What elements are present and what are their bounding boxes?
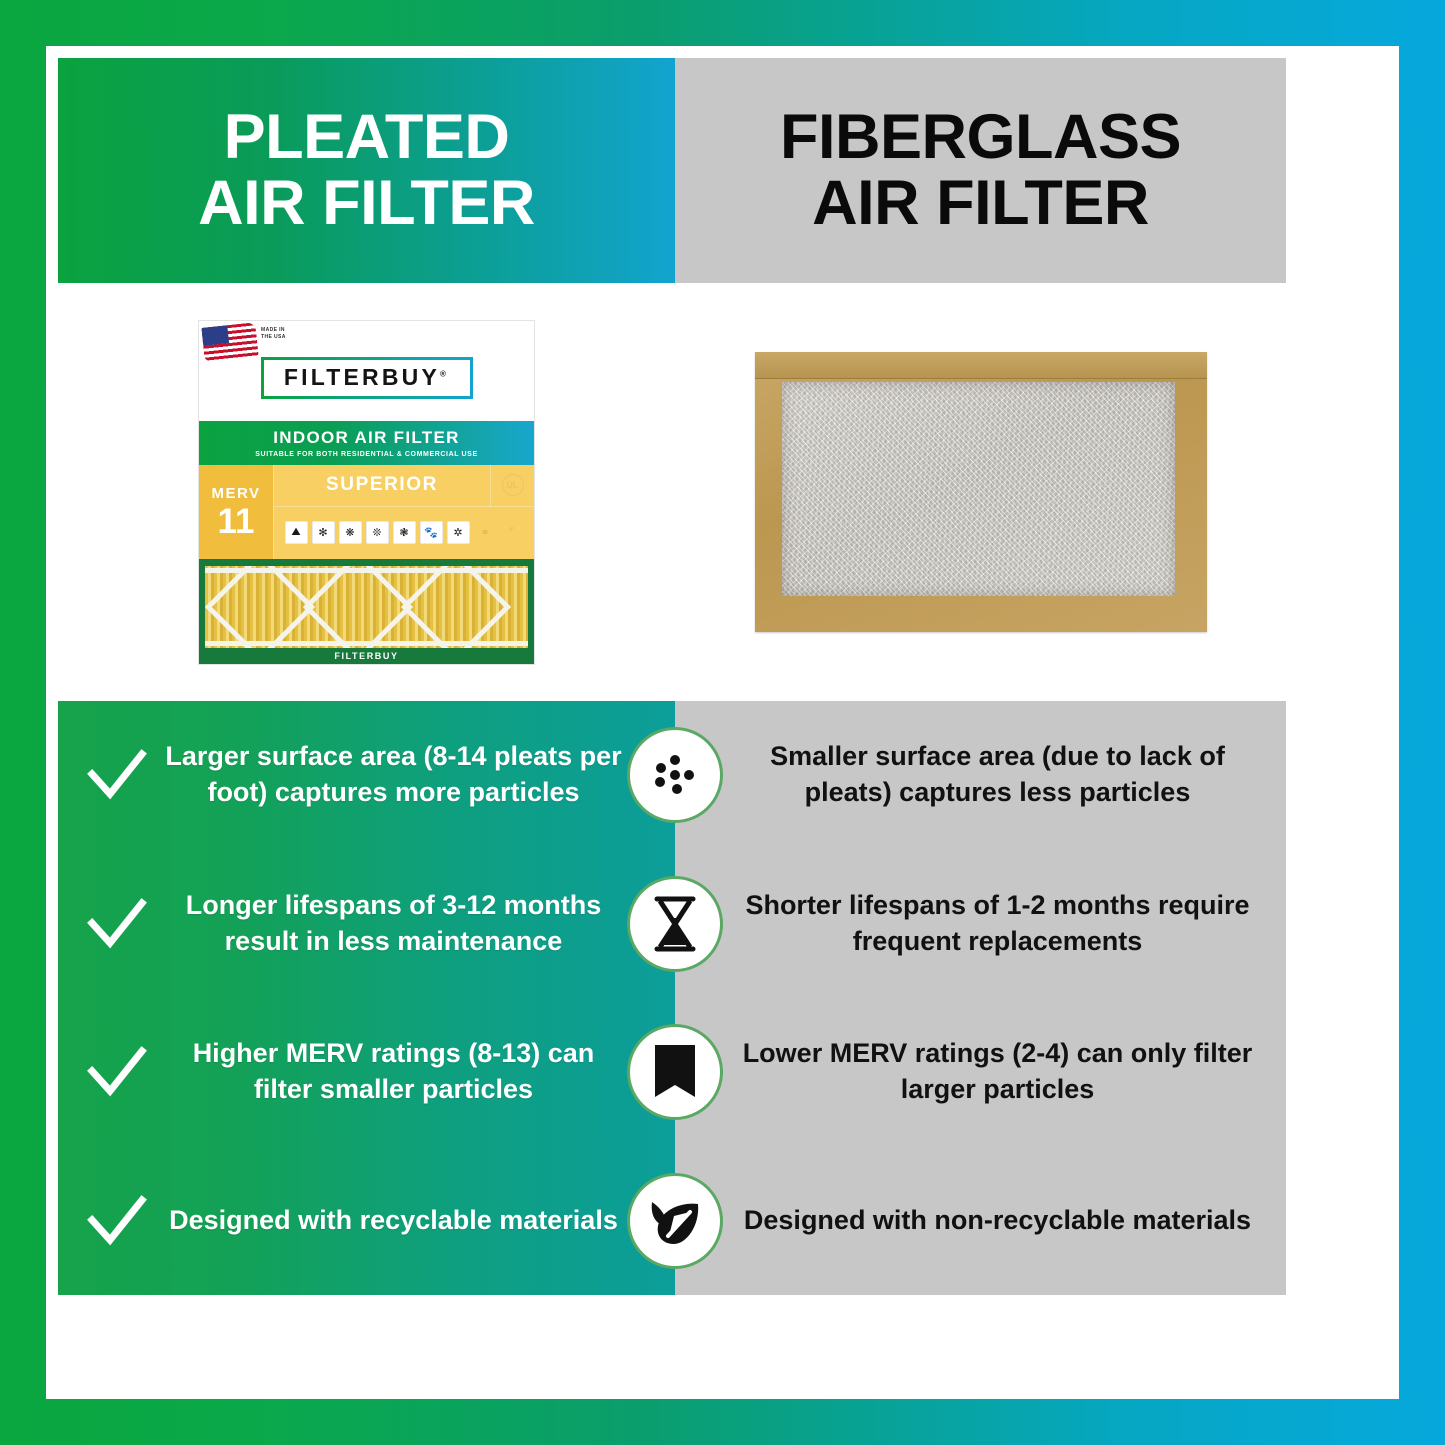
box-footer-brand: FILTERBUY (199, 648, 534, 665)
feature-row: Longer lifespans of 3-12 months result i… (58, 850, 1286, 999)
particles-icon (627, 727, 723, 823)
product-images-row: MADE IN THE USA FILTERBUY® INDOOR AIR FI… (58, 283, 1286, 701)
grade-row: SUPERIOR UL (274, 465, 534, 507)
hourglass-icon (627, 876, 723, 972)
header-fiberglass-panel: FIBERGLASS AIR FILTER (675, 58, 1286, 283)
feature-row-left: Designed with recyclable materials (58, 1147, 675, 1296)
feature-row: Larger surface area (8-14 pleats per foo… (58, 701, 1286, 850)
feature-text-fiberglass: Lower MERV ratings (2-4) can only filter… (737, 1036, 1258, 1108)
grade-section: SUPERIOR UL ⛰ ✻ ❋ ❊ ❃ 🐾 ✲ (274, 465, 534, 559)
grade-label: SUPERIOR (274, 474, 490, 496)
virus-icon: ⚭ (474, 521, 497, 544)
bacteria-icon: ✲ (447, 521, 470, 544)
dust-icon: ⛰ (285, 521, 308, 544)
feature-row-left: Larger surface area (8-14 pleats per foo… (58, 701, 675, 850)
header-fiberglass-title: FIBERGLASS AIR FILTER (780, 105, 1181, 236)
comparison-infographic: PLEATED AIR FILTER FIBERGLASS AIR FILTER… (0, 0, 1445, 1445)
certification-cell: UL (490, 465, 534, 506)
pleated-media-area: FILTERBUY (199, 559, 534, 665)
brand-word: FILTERBUY (284, 364, 440, 390)
feature-text-fiberglass: Shorter lifespans of 1-2 months require … (737, 888, 1258, 960)
pleated-image-cell: MADE IN THE USA FILTERBUY® INDOOR AIR FI… (58, 283, 675, 701)
support-diamond-1 (205, 566, 315, 648)
band-subtitle: SUITABLE FOR BOTH RESIDENTIAL & COMMERCI… (255, 451, 477, 458)
filter-feature-icons: ⛰ ✻ ❋ ❊ ❃ 🐾 ✲ ⚭ ⌜ (274, 507, 534, 559)
pleated-air-filter-box: MADE IN THE USA FILTERBUY® INDOOR AIR FI… (198, 320, 535, 665)
filter-box-top: MADE IN THE USA FILTERBUY® (199, 321, 534, 421)
feature-row: Designed with recyclable materials Desig… (58, 1147, 1286, 1296)
made-in-usa-label: MADE IN THE USA (261, 327, 286, 342)
check-icon (86, 744, 148, 806)
check-icon (86, 893, 148, 955)
check-icon (86, 1041, 148, 1103)
brand-trademark: ® (440, 369, 449, 378)
band-title: INDOOR AIR FILTER (273, 428, 459, 448)
feature-row-left: Longer lifespans of 3-12 months result i… (58, 850, 675, 999)
features-rows: Larger surface area (8-14 pleats per foo… (58, 701, 1286, 1295)
ul-certification-icon: UL (502, 474, 524, 496)
support-diamond-3 (401, 566, 511, 648)
pollen-icon: ❋ (339, 521, 362, 544)
check-icon (86, 1190, 148, 1252)
feature-row-right: Lower MERV ratings (2-4) can only filter… (675, 998, 1286, 1147)
fiberglass-air-filter (755, 352, 1207, 632)
filterbuy-logo-text: FILTERBUY® (284, 364, 449, 391)
feature-text-pleated: Larger surface area (8-14 pleats per foo… (164, 739, 623, 811)
feature-row: Higher MERV ratings (8-13) can filter sm… (58, 998, 1286, 1147)
header-pleated-title: PLEATED AIR FILTER (198, 105, 535, 236)
merv-value: 11 (218, 504, 255, 539)
feature-row-right: Designed with non-recyclable materials (675, 1147, 1286, 1296)
merv-label: MERV (211, 485, 260, 502)
indoor-air-filter-band: INDOOR AIR FILTER SUITABLE FOR BOTH RESI… (199, 421, 534, 465)
support-diamond-2 (303, 566, 413, 648)
filterbuy-logo-frame: FILTERBUY® (261, 357, 473, 399)
mold-icon: ❊ (366, 521, 389, 544)
leaves-icon (627, 1173, 723, 1269)
feature-text-pleated: Longer lifespans of 3-12 months result i… (164, 888, 623, 960)
feature-row-left: Higher MERV ratings (8-13) can filter sm… (58, 998, 675, 1147)
feature-text-pleated: Higher MERV ratings (8-13) can filter sm… (164, 1036, 623, 1108)
features-section: Larger surface area (8-14 pleats per foo… (58, 701, 1286, 1295)
feature-row-right: Shorter lifespans of 1-2 months require … (675, 850, 1286, 999)
feature-text-fiberglass: Designed with non-recyclable materials (744, 1203, 1251, 1239)
merv-panel: MERV 11 (199, 465, 274, 559)
header-pleated-panel: PLEATED AIR FILTER (58, 58, 675, 283)
pleat-texture (205, 566, 528, 648)
pet-dander-icon: 🐾 (420, 521, 443, 544)
bookmark-icon (627, 1024, 723, 1120)
fiberglass-image-cell (675, 283, 1286, 701)
feature-text-fiberglass: Smaller surface area (due to lack of ple… (737, 739, 1258, 811)
usa-flag-icon (201, 322, 258, 361)
feature-text-pleated: Designed with recyclable materials (164, 1203, 623, 1239)
feature-row-right: Smaller surface area (due to lack of ple… (675, 701, 1286, 850)
header-band: PLEATED AIR FILTER FIBERGLASS AIR FILTER (58, 58, 1286, 283)
smoke-icon: ❃ (393, 521, 416, 544)
fiberglass-media (782, 382, 1175, 596)
odor-icon: ⌜ (501, 521, 524, 544)
bug-icon: ✻ (312, 521, 335, 544)
merv-grade-section: MERV 11 SUPERIOR UL ⛰ ✻ ❋ (199, 465, 534, 559)
